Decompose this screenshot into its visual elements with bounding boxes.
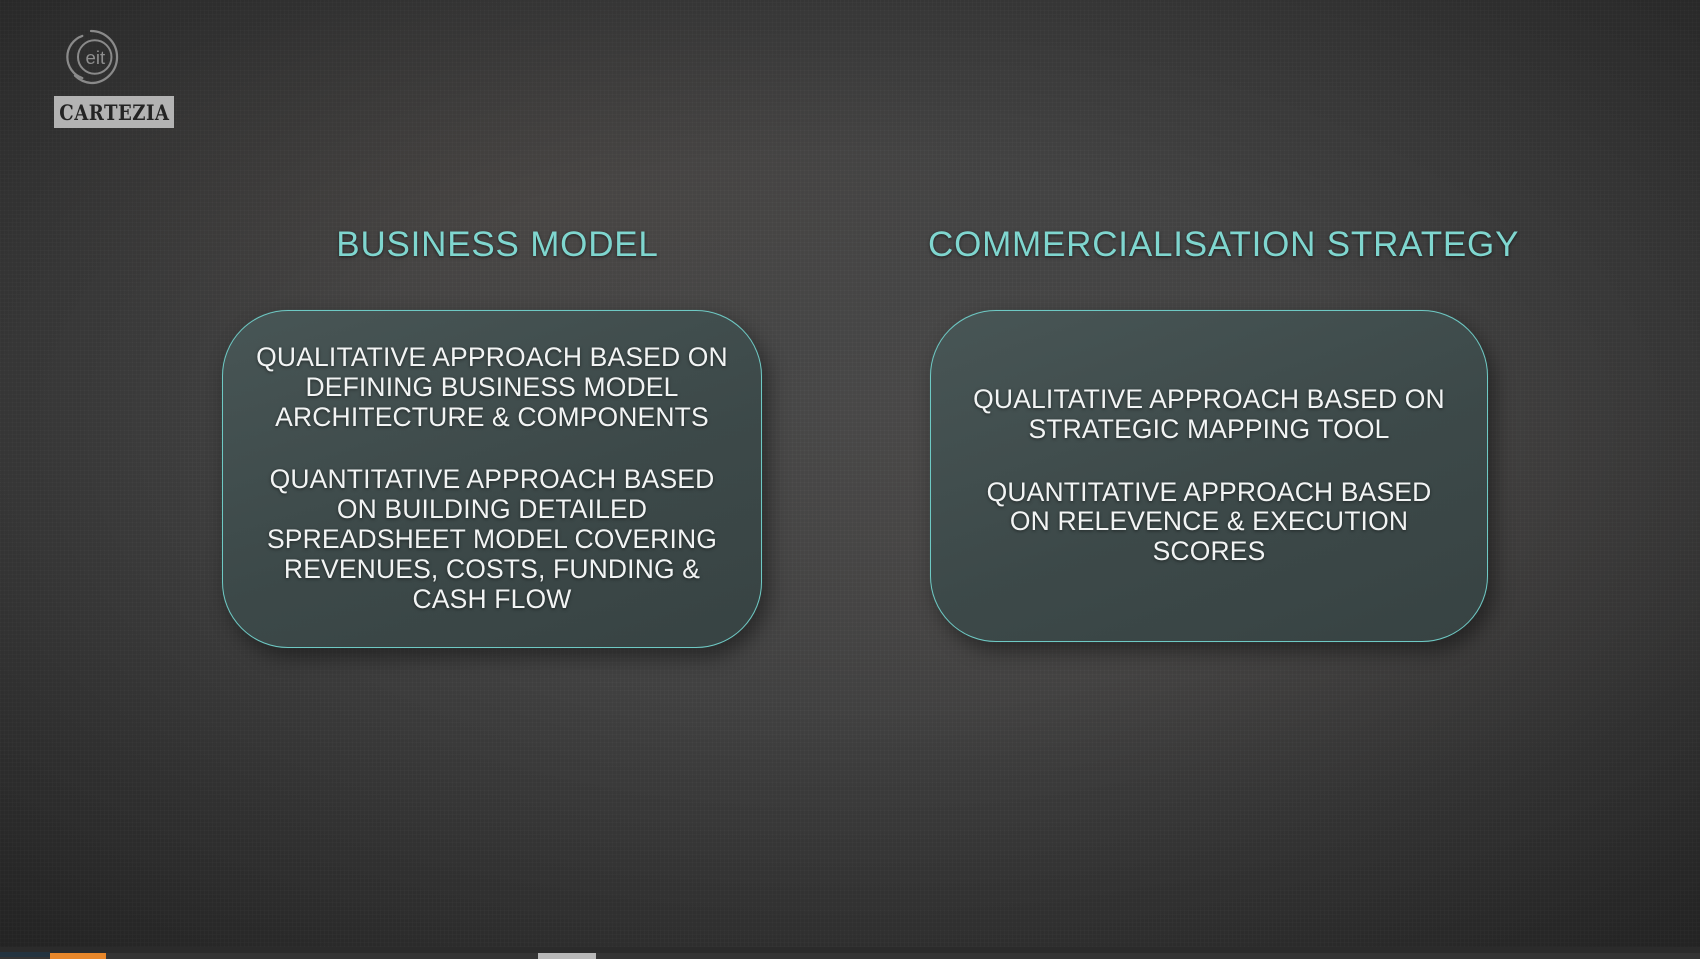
panel-paragraph: QUANTITATIVE APPROACH BASED ON RELEVENCE… <box>971 478 1447 568</box>
column-commercialisation-strategy: COMMERCIALISATION STRATEGY QUALITATIVE A… <box>930 225 1492 642</box>
video-player-strip[interactable] <box>0 947 1700 959</box>
video-progress-bar[interactable] <box>50 953 106 959</box>
video-strip-left-segment <box>0 952 50 957</box>
presentation-slide: eit CARTEZIA BUSINESS MODEL QUALITATIVE … <box>0 0 1700 959</box>
content-columns: BUSINESS MODEL QUALITATIVE APPROACH BASE… <box>0 0 1700 959</box>
column-business-model: BUSINESS MODEL QUALITATIVE APPROACH BASE… <box>222 225 767 648</box>
video-progress-track[interactable] <box>0 953 1700 959</box>
heading-business-model: BUSINESS MODEL <box>228 225 767 265</box>
heading-commercialisation-strategy: COMMERCIALISATION STRATEGY <box>928 225 1492 265</box>
panel-paragraph: QUALITATIVE APPROACH BASED ON STRATEGIC … <box>971 385 1447 445</box>
video-scrubber-thumb[interactable] <box>538 953 596 959</box>
panel-paragraph: QUANTITATIVE APPROACH BASED ON BUILDING … <box>251 465 733 615</box>
panel-business-model: QUALITATIVE APPROACH BASED ON DEFINING B… <box>222 310 762 648</box>
panel-paragraph: QUALITATIVE APPROACH BASED ON DEFINING B… <box>251 343 733 433</box>
panel-commercialisation-strategy: QUALITATIVE APPROACH BASED ON STRATEGIC … <box>930 310 1488 642</box>
